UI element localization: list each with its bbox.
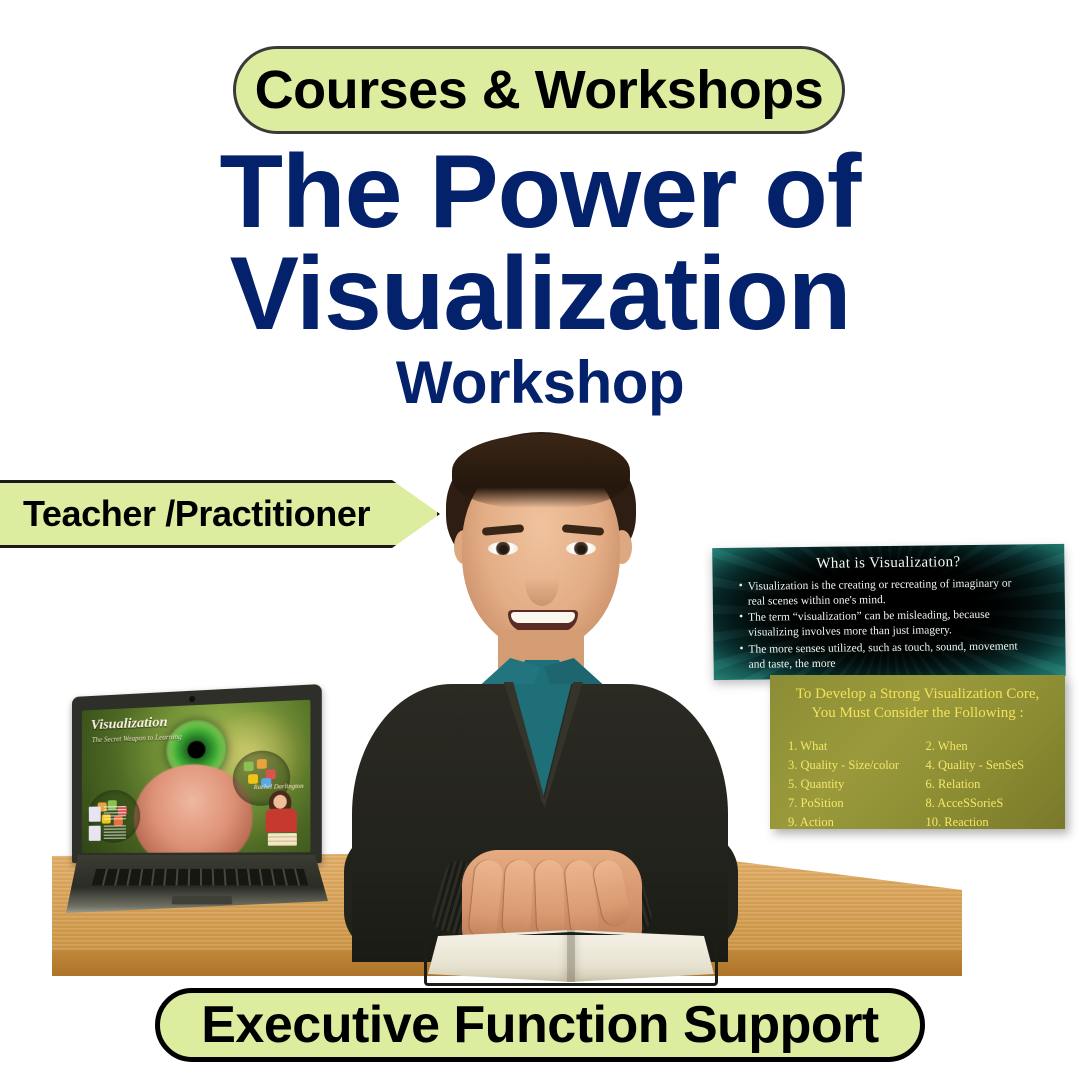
list-item: 4. Quality - SenSeS (926, 756, 1056, 775)
banner-teacher-label: Teacher /Practitioner (23, 493, 370, 535)
book-cover-edge (424, 932, 718, 986)
slide-dark-bullet: Visualization is the creating or recreat… (739, 576, 1029, 609)
list-item: 7. PoSition (788, 794, 918, 813)
list-item: 9. Action (788, 813, 918, 829)
list-item: 3. Quality - Size/color (788, 756, 918, 775)
slide-dark-bullet: The term “visualization” can be misleadi… (739, 608, 1029, 641)
slide-presenter-photo (259, 790, 304, 846)
presenter-finger-2 (502, 859, 534, 938)
presenter-pupil-left (499, 545, 508, 554)
badge-courses-label: Courses & Workshops (255, 59, 824, 121)
presenter-mouth (508, 610, 578, 632)
presenter-photo (330, 432, 750, 962)
slide-dark-bullet-list: Visualization is the creating or recreat… (739, 576, 1030, 674)
badge-courses-workshops[interactable]: Courses & Workshops (233, 46, 845, 134)
headline-line-2: Visualization (0, 244, 1080, 346)
presenter-nose (525, 558, 559, 606)
poster-canvas: Courses & Workshops The Power of Visuali… (0, 0, 1080, 1080)
slide-olive-column-left: 1. What 3. Quality - Size/color 5. Quant… (788, 737, 918, 829)
laptop-screen: Visualization The Secret Weapon to Learn… (82, 700, 311, 853)
presenter-hair-front (452, 434, 630, 508)
slide-olive-title-line-1: To Develop a Strong Visualization Core, (780, 685, 1055, 704)
laptop-webcam-icon (189, 696, 195, 703)
slide-dark-bullet: The more senses utilized, such as touch,… (739, 639, 1029, 672)
list-item: 1. What (788, 737, 918, 756)
laptop-trackpad (172, 896, 233, 905)
slide-olive-column-right: 2. When 4. Quality - SenSeS 6. Relation … (926, 737, 1056, 829)
list-item: 8. AcceSSorieS (926, 794, 1056, 813)
list-item: 2. When (926, 737, 1056, 756)
presenter-finger-3 (535, 860, 566, 939)
badge-executive-label: Executive Function Support (201, 995, 879, 1055)
slide-olive-title: To Develop a Strong Visualization Core, … (780, 685, 1055, 723)
slide-card-visualization-core[interactable]: To Develop a Strong Visualization Core, … (770, 675, 1065, 829)
headline-line-1: The Power of (0, 142, 1080, 244)
badge-executive-function-support[interactable]: Executive Function Support (155, 988, 925, 1062)
slide-card-what-is-visualization[interactable]: What is Visualization? Visualization is … (712, 544, 1066, 680)
presenter-pupil-right (577, 545, 586, 554)
laptop-lid: Visualization The Secret Weapon to Learn… (72, 684, 322, 863)
page-title: The Power of Visualization Workshop (0, 142, 1080, 413)
laptop: Visualization The Secret Weapon to Learn… (60, 697, 328, 917)
headline-subtitle: Workshop (0, 354, 1080, 413)
slide-olive-title-line-2: You Must Consider the Following : (780, 704, 1055, 723)
list-item: 5. Quantity (788, 775, 918, 794)
laptop-slide-title: Visualization (91, 715, 168, 735)
slide-thumbnail-list (89, 806, 126, 845)
list-item: 10. Reaction (926, 813, 1056, 829)
open-book (428, 930, 714, 982)
laptop-keyboard (92, 869, 309, 886)
list-item: 6. Relation (926, 775, 1056, 794)
slide-olive-columns: 1. What 3. Quality - Size/color 5. Quant… (788, 737, 1055, 829)
